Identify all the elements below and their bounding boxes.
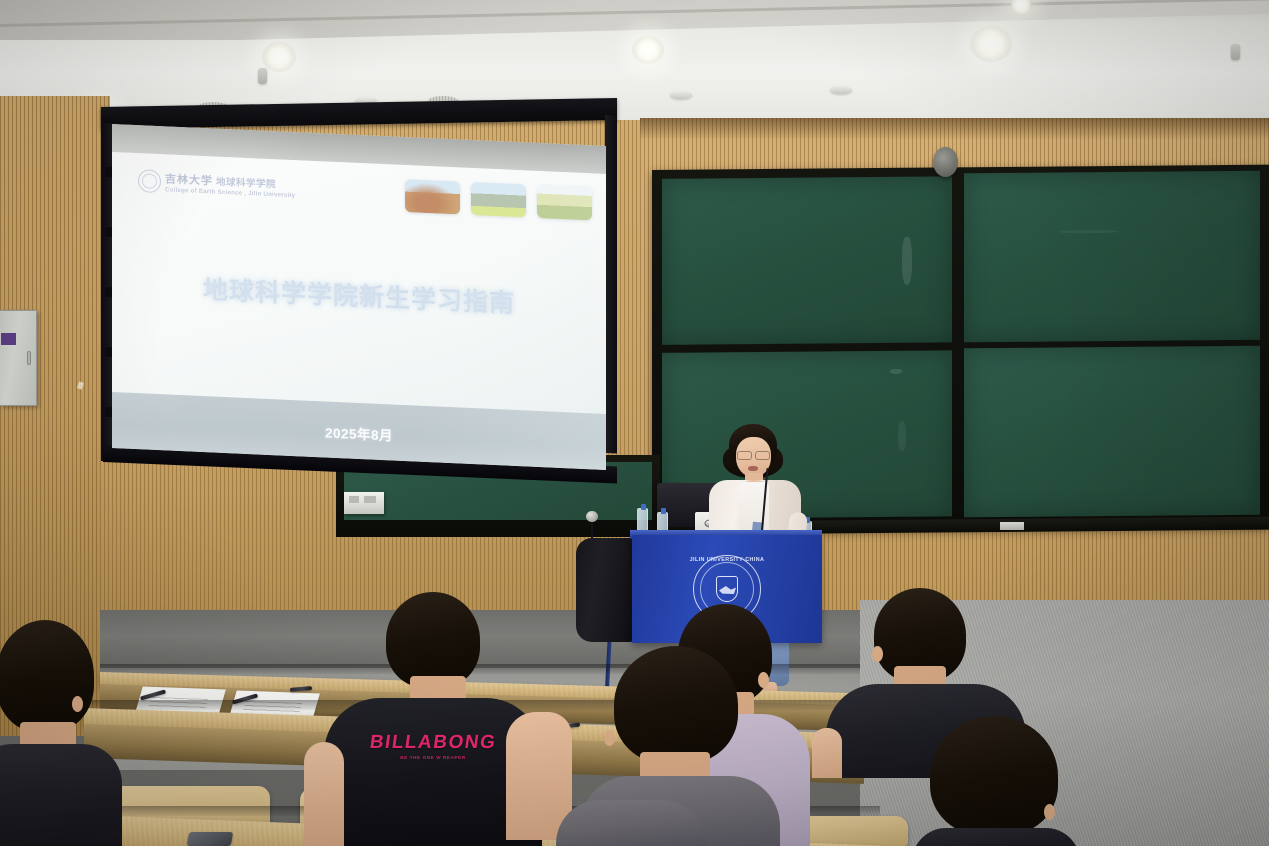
sprinkler-head-2 [1231,44,1240,60]
student-left-foreground [0,620,112,846]
slide-surface: 吉林大学 地球科学学院 College of Earth Science , J… [112,124,606,470]
student-right-dark-arm [812,728,842,778]
screen-clip-3 [105,287,112,297]
chalkboard-panel-top-left [662,176,952,345]
screen-clip-2 [105,227,112,237]
lecture-hall-photo: 吉林大学 地球科学学院 College of Earth Science , J… [0,0,1269,846]
podium-left-wing [576,538,634,642]
projection-screen: 吉林大学 地球科学学院 College of Earth Science , J… [101,107,617,464]
student-bottom-center-shirt [556,800,706,846]
wall-top-shadow [640,118,1269,140]
screen-clip-1 [105,167,112,177]
slide-thumb-mountain-grassland-photo [471,182,526,217]
student-right-back-ear [1044,804,1055,820]
student-left-head [0,620,94,732]
panel-latch[interactable] [27,351,31,365]
screen-right-edge [605,115,617,454]
sprinkler-head-1 [258,68,267,84]
student-center-gray-head [614,646,738,764]
student-right-dark-ear [872,646,883,662]
student-right-back-shirt [912,828,1080,846]
phone-2[interactable] [187,832,233,846]
electrical-panel-box[interactable] [0,310,37,406]
student-billabong: BILLABONG BE THE ONE W REAPER [310,592,572,846]
billabong-logo-subtext: BE THE ONE W REAPER [400,755,466,760]
wall-speaker-icon [933,147,958,177]
student-bottom-center [556,788,706,846]
screen-clip-4 [105,347,112,357]
student-billabong-head [386,592,480,688]
jilin-university-seal-icon [138,169,161,193]
microphone-icon [586,511,598,522]
ceiling-light-2 [262,42,296,72]
billabong-logo-text: BILLABONG [368,732,498,754]
student-billabong-left-shoulder [304,742,344,846]
screen-clip-5 [105,407,112,417]
student-left-ear [72,696,83,712]
presenter-glasses-icon [737,451,770,458]
presenter-mouth [748,466,758,471]
chalkboard-panel-top-right [964,171,1260,343]
panel-warning-label [1,333,16,345]
chalkboard-panel-bottom-right [964,346,1260,518]
smoke-detector-2 [830,86,852,94]
ceiling-light-4 [970,26,1012,62]
student-center-gray-ear [604,730,615,746]
chalk-eraser[interactable] [1000,522,1024,530]
student-right-back [898,716,1088,846]
slide-thumb-red-rock-formation-photo [405,179,460,214]
slide-thumb-green-hills-outcrop-photo [537,185,592,220]
student-left-shirt [0,744,122,846]
student-right-back-head [930,716,1058,836]
ceiling-light-3 [632,36,664,64]
slide-logo-college-cn: 地球科学学院 [216,174,276,191]
chalk-box[interactable] [344,492,384,514]
smoke-detector-1 [670,91,692,99]
